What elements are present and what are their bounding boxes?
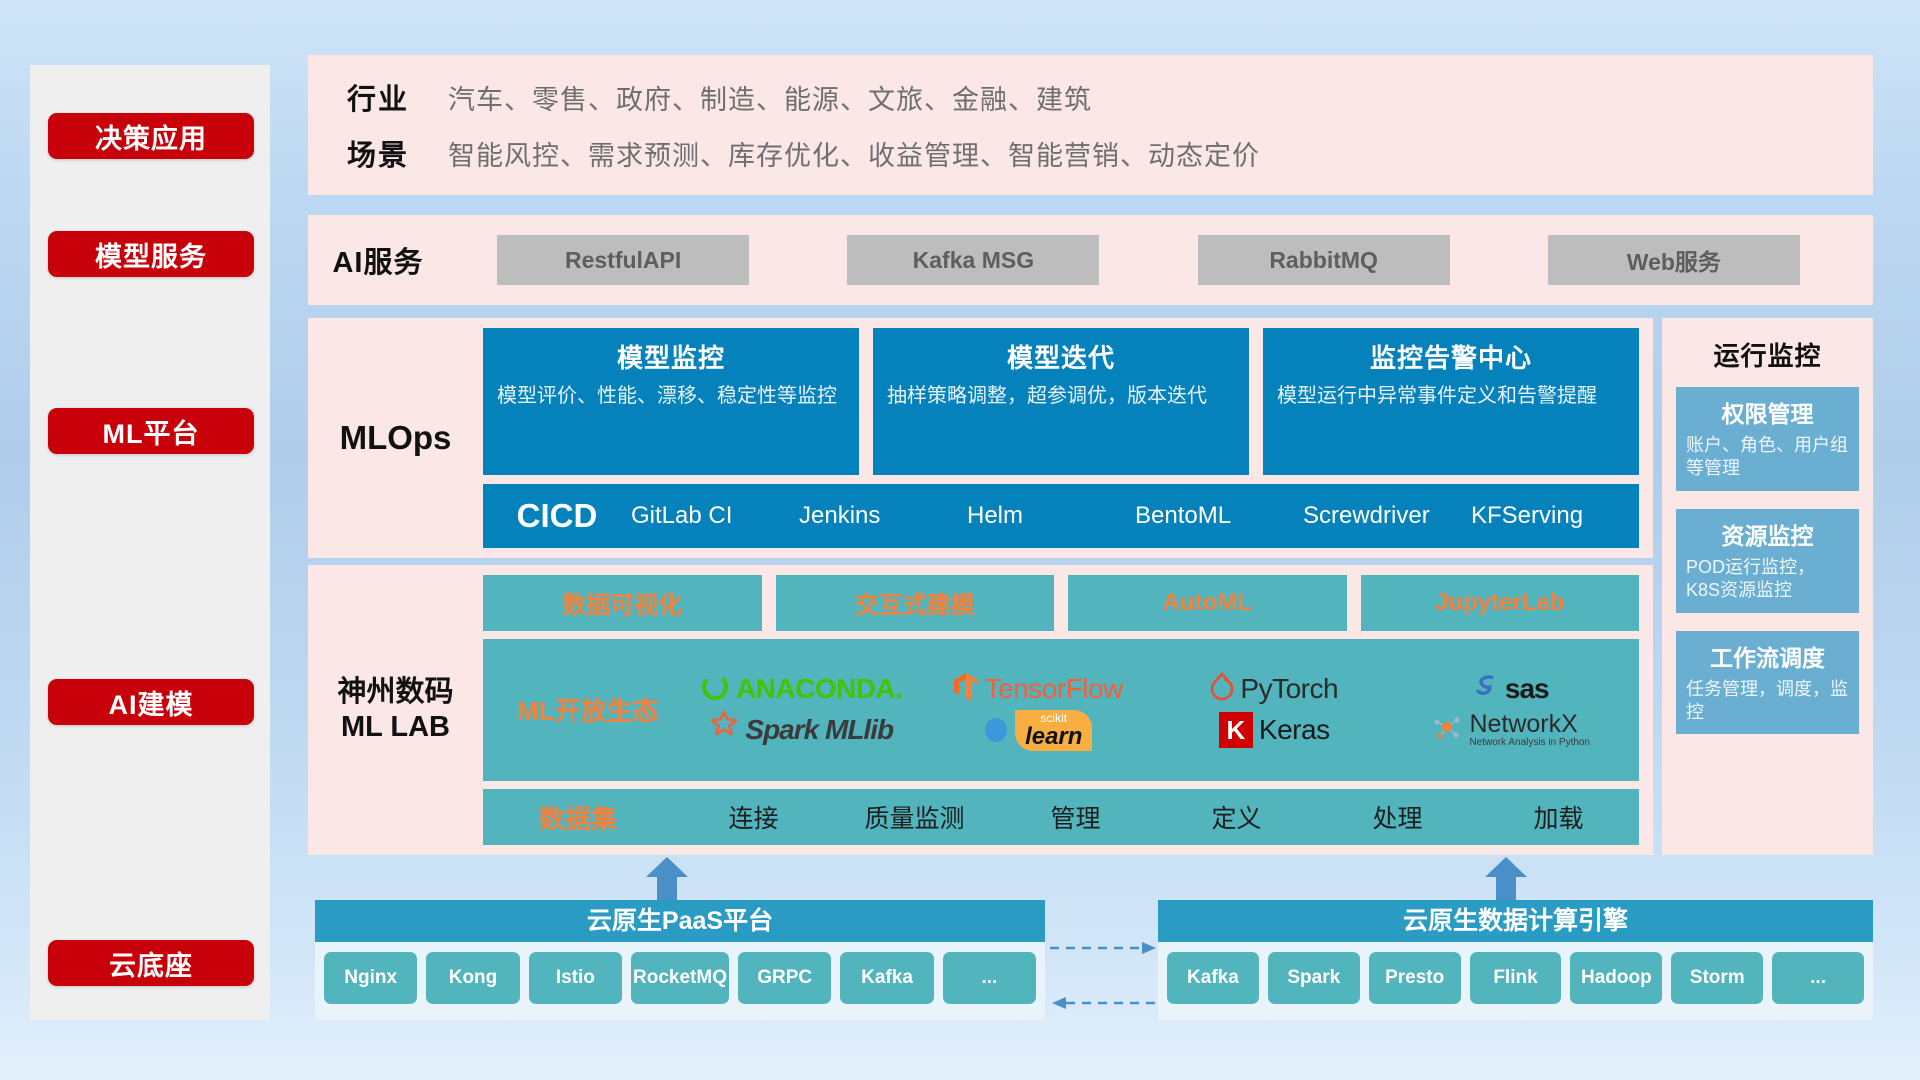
dataset-item-quality[interactable]: 质量监测 bbox=[834, 799, 995, 835]
left-rail: 决策应用 模型服务 ML平台 AI建模 云底座 bbox=[30, 65, 270, 1020]
dataset-item-manage[interactable]: 管理 bbox=[995, 799, 1156, 835]
dataset-bar: 数据集 连接 质量监测 管理 定义 处理 加载 bbox=[483, 789, 1639, 845]
keras-icon: K bbox=[1219, 712, 1253, 748]
anaconda-label: ANACONDA. bbox=[736, 673, 903, 705]
rail-label: 模型服务 bbox=[95, 235, 207, 274]
modeling-content: 数据可视化 交互式建模 AutoML JupyterLab ML开放生态 ANA… bbox=[483, 565, 1653, 855]
mlops-card-model-monitoring[interactable]: 模型监控 模型评价、性能、漂移、稳定性等监控 bbox=[483, 328, 859, 475]
industry-value: 汽车、零售、政府、制造、能源、文旅、金融、建筑 bbox=[448, 78, 1092, 117]
cicd-item-helm[interactable]: Helm bbox=[967, 503, 1135, 528]
dataset-item-process[interactable]: 处理 bbox=[1317, 799, 1478, 835]
right-dashed-arrow-icon bbox=[1050, 940, 1158, 961]
operation-monitoring-panel: 运行监控 权限管理 账户、角色、用户组等管理 资源监控 POD运行监控，K8S资… bbox=[1662, 318, 1873, 855]
rail-item-model-service[interactable]: 模型服务 bbox=[48, 231, 254, 277]
spark-star-icon bbox=[709, 710, 739, 751]
rail-item-ml-platform[interactable]: ML平台 bbox=[48, 408, 254, 454]
sas-logo: sas bbox=[1473, 673, 1549, 706]
cicd-item-jenkins[interactable]: Jenkins bbox=[799, 503, 967, 528]
tensorflow-label: TensorFlow bbox=[985, 673, 1123, 705]
paas-chips: Nginx Kong Istio RocketMQ GRPC Kafka ... bbox=[315, 942, 1045, 1014]
networkx-logo: NetworkX Network Analysis in Python bbox=[1431, 712, 1590, 748]
paas-chip-istio[interactable]: Istio bbox=[529, 952, 622, 1004]
tab-data-visualization[interactable]: 数据可视化 bbox=[483, 575, 762, 631]
engine-chips: Kafka Spark Presto Flink Hadoop Storm ..… bbox=[1158, 942, 1873, 1014]
card-desc: 任务管理，调度，监控 bbox=[1686, 678, 1849, 725]
card-title: 模型迭代 bbox=[887, 338, 1235, 375]
card-desc: 账户、角色、用户组等管理 bbox=[1686, 434, 1849, 481]
ai-service-panel: AI服务 RestfulAPI Kafka MSG RabbitMQ Web服务 bbox=[308, 215, 1873, 305]
engine-chip-kafka[interactable]: Kafka bbox=[1167, 952, 1259, 1004]
operation-monitoring-title: 运行监控 bbox=[1676, 336, 1859, 373]
sas-icon bbox=[1473, 673, 1499, 706]
rail-item-decision-app[interactable]: 决策应用 bbox=[48, 113, 254, 159]
rail-label: AI建模 bbox=[109, 683, 194, 722]
ml-lab-line2: ML LAB bbox=[341, 711, 450, 744]
rail-label: 决策应用 bbox=[95, 117, 207, 156]
card-title: 监控告警中心 bbox=[1277, 338, 1625, 375]
cicd-item-screwdriver[interactable]: Screwdriver bbox=[1303, 503, 1471, 528]
right-card-workflow-scheduling[interactable]: 工作流调度 任务管理，调度，监控 bbox=[1676, 631, 1859, 735]
paas-platform-block: 云原生PaaS平台 Nginx Kong Istio RocketMQ GRPC… bbox=[315, 900, 1045, 1020]
card-title: 工作流调度 bbox=[1686, 639, 1849, 673]
modeling-tabs: 数据可视化 交互式建模 AutoML JupyterLab bbox=[483, 575, 1639, 631]
industry-key: 行业 bbox=[308, 76, 448, 118]
card-title: 模型监控 bbox=[497, 338, 845, 375]
ai-service-item-web-service[interactable]: Web服务 bbox=[1548, 235, 1800, 285]
keras-label: Keras bbox=[1259, 714, 1330, 746]
sas-label: sas bbox=[1505, 673, 1549, 705]
scenario-row: 场景 智能风控、需求预测、库存优化、收益管理、智能营销、动态定价 bbox=[308, 125, 1873, 181]
scenario-value: 智能风控、需求预测、库存优化、收益管理、智能营销、动态定价 bbox=[448, 134, 1260, 173]
ai-service-item-kafka-msg[interactable]: Kafka MSG bbox=[847, 235, 1099, 285]
dataset-items: 连接 质量监测 管理 定义 处理 加载 bbox=[673, 799, 1639, 835]
mlops-card-model-iteration[interactable]: 模型迭代 抽样策略调整，超参调优，版本迭代 bbox=[873, 328, 1249, 475]
ai-service-item-restfulapi[interactable]: RestfulAPI bbox=[497, 235, 749, 285]
engine-chip-hadoop[interactable]: Hadoop bbox=[1570, 952, 1662, 1004]
ai-service-key: AI服务 bbox=[308, 239, 448, 281]
cicd-bar: CICD GitLab CI Jenkins Helm BentoML Scre… bbox=[483, 484, 1639, 548]
card-title: 权限管理 bbox=[1686, 395, 1849, 429]
keras-logo: K Keras bbox=[1219, 712, 1330, 748]
dataset-item-load[interactable]: 加载 bbox=[1478, 799, 1639, 835]
mlops-cards: 模型监控 模型评价、性能、漂移、稳定性等监控 模型迭代 抽样策略调整，超参调优，… bbox=[483, 328, 1639, 475]
mlops-panel: MLOps 模型监控 模型评价、性能、漂移、稳定性等监控 模型迭代 抽样策略调整… bbox=[308, 318, 1653, 558]
cicd-title: CICD bbox=[483, 497, 631, 535]
ai-modeling-panel: 神州数码 ML LAB 数据可视化 交互式建模 AutoML JupyterLa… bbox=[308, 565, 1653, 855]
ml-lab-key: 神州数码 ML LAB bbox=[308, 565, 483, 855]
data-compute-engine-block: 云原生数据计算引擎 Kafka Spark Presto Flink Hadoo… bbox=[1158, 900, 1873, 1020]
paas-chip-kafka[interactable]: Kafka bbox=[840, 952, 933, 1004]
mlops-content: 模型监控 模型评价、性能、漂移、稳定性等监控 模型迭代 抽样策略调整，超参调优，… bbox=[483, 318, 1653, 558]
engine-chip-flink[interactable]: Flink bbox=[1470, 952, 1562, 1004]
rail-label: 云底座 bbox=[109, 944, 193, 983]
scikit-blue-blob-icon bbox=[983, 713, 1009, 748]
dataset-item-define[interactable]: 定义 bbox=[1156, 799, 1317, 835]
card-desc: POD运行监控，K8S资源监控 bbox=[1686, 556, 1849, 603]
ml-lab-line1: 神州数码 bbox=[337, 676, 453, 709]
paas-chip-kong[interactable]: Kong bbox=[426, 952, 519, 1004]
rail-label: ML平台 bbox=[103, 412, 200, 451]
networkx-sublabel: Network Analysis in Python bbox=[1469, 737, 1590, 748]
left-dashed-arrow-icon bbox=[1050, 995, 1158, 1016]
pytorch-logo: PyTorch bbox=[1210, 672, 1338, 707]
tab-interactive-modeling[interactable]: 交互式建模 bbox=[776, 575, 1055, 631]
scenario-key: 场景 bbox=[308, 132, 448, 174]
paas-platform-title: 云原生PaaS平台 bbox=[315, 900, 1045, 942]
engine-up-arrow-icon bbox=[1483, 857, 1519, 906]
cicd-item-kfserving[interactable]: KFServing bbox=[1471, 503, 1639, 528]
ml-ecosystem-logos: ANACONDA. TensorFlow bbox=[683, 669, 1629, 751]
ml-ecosystem-label: ML开放生态 bbox=[493, 691, 683, 728]
ai-service-items: RestfulAPI Kafka MSG RabbitMQ Web服务 bbox=[448, 235, 1873, 285]
paas-up-arrow-icon bbox=[644, 857, 680, 906]
spark-mllib-label: Spark MLlib bbox=[745, 714, 893, 746]
engine-chip-storm[interactable]: Storm bbox=[1671, 952, 1763, 1004]
anaconda-logo: ANACONDA. bbox=[700, 672, 903, 707]
cicd-items: GitLab CI Jenkins Helm BentoML Screwdriv… bbox=[631, 503, 1639, 528]
engine-chip-spark[interactable]: Spark bbox=[1268, 952, 1360, 1004]
paas-chip-rocketmq[interactable]: RocketMQ bbox=[631, 952, 729, 1004]
industry-row: 行业 汽车、零售、政府、制造、能源、文旅、金融、建筑 bbox=[308, 69, 1873, 125]
decision-application-panel: 行业 汽车、零售、政府、制造、能源、文旅、金融、建筑 场景 智能风控、需求预测、… bbox=[308, 55, 1873, 195]
card-desc: 抽样策略调整，超参调优，版本迭代 bbox=[887, 383, 1235, 409]
data-compute-engine-title: 云原生数据计算引擎 bbox=[1158, 900, 1873, 942]
engine-chip-more[interactable]: ... bbox=[1772, 952, 1864, 1004]
dataset-title: 数据集 bbox=[483, 799, 673, 836]
right-card-permission-management[interactable]: 权限管理 账户、角色、用户组等管理 bbox=[1676, 387, 1859, 491]
mlops-card-alert-center[interactable]: 监控告警中心 模型运行中异常事件定义和告警提醒 bbox=[1263, 328, 1639, 475]
tab-jupyterlab[interactable]: JupyterLab bbox=[1361, 575, 1640, 631]
scikit-learn-logo: scikit learn bbox=[983, 710, 1092, 751]
pytorch-icon bbox=[1210, 672, 1234, 707]
paas-chip-grpc[interactable]: GRPC bbox=[738, 952, 831, 1004]
tensorflow-icon bbox=[953, 672, 979, 707]
rail-item-ai-modeling[interactable]: AI建模 bbox=[48, 679, 254, 725]
tensorflow-logo: TensorFlow bbox=[953, 672, 1123, 707]
paas-chip-nginx[interactable]: Nginx bbox=[324, 952, 417, 1004]
networkx-label: NetworkX bbox=[1469, 712, 1590, 737]
right-card-resource-monitoring[interactable]: 资源监控 POD运行监控，K8S资源监控 bbox=[1676, 509, 1859, 613]
ai-service-item-rabbitmq[interactable]: RabbitMQ bbox=[1198, 235, 1450, 285]
mlops-key: MLOps bbox=[308, 318, 483, 558]
card-desc: 模型运行中异常事件定义和告警提醒 bbox=[1277, 383, 1625, 409]
ml-ecosystem-bar: ML开放生态 ANACONDA. bbox=[483, 639, 1639, 781]
tab-automl[interactable]: AutoML bbox=[1068, 575, 1347, 631]
cicd-item-bentoml[interactable]: BentoML bbox=[1135, 503, 1303, 528]
spark-mllib-logo: Spark MLlib bbox=[709, 710, 893, 751]
engine-chip-presto[interactable]: Presto bbox=[1369, 952, 1461, 1004]
rail-item-cloud-base[interactable]: 云底座 bbox=[48, 940, 254, 986]
dataset-item-connect[interactable]: 连接 bbox=[673, 799, 834, 835]
cicd-item-gitlab-ci[interactable]: GitLab CI bbox=[631, 503, 799, 528]
card-title: 资源监控 bbox=[1686, 517, 1849, 551]
networkx-icon bbox=[1431, 713, 1463, 748]
scikit-learn-label: learn bbox=[1025, 725, 1082, 749]
pytorch-label: PyTorch bbox=[1240, 673, 1338, 705]
anaconda-icon bbox=[700, 672, 730, 707]
card-desc: 模型评价、性能、漂移、稳定性等监控 bbox=[497, 383, 845, 409]
paas-chip-more[interactable]: ... bbox=[943, 952, 1036, 1004]
